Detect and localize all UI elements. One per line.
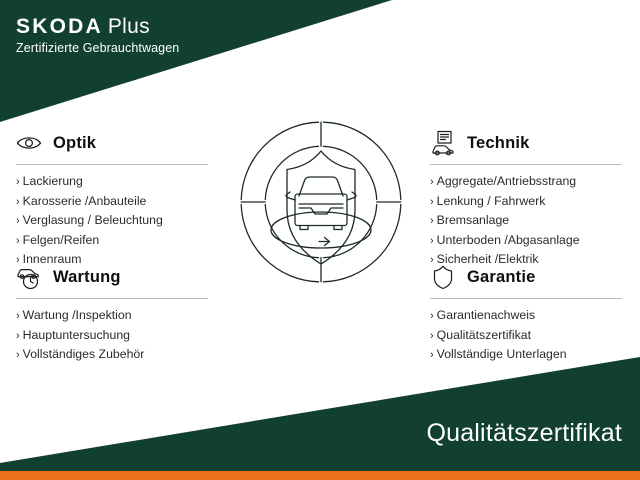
section-title: Technik bbox=[467, 134, 530, 153]
section-title: Optik bbox=[53, 134, 96, 153]
list-item-label: Karosserie /Anbauteile bbox=[23, 194, 147, 208]
section-header: Garantie bbox=[430, 262, 626, 292]
chevron-right-icon: › bbox=[430, 215, 434, 227]
chevron-right-icon: › bbox=[16, 196, 20, 208]
chevron-right-icon: › bbox=[430, 176, 434, 188]
list-item: ›Lackierung bbox=[16, 172, 212, 192]
chevron-right-icon: › bbox=[430, 349, 434, 361]
list-item-label: Unterboden /Abgasanlage bbox=[437, 233, 580, 247]
list-item-label: Vollständige Unterlagen bbox=[437, 347, 567, 361]
list-item: ›Felgen/Reifen bbox=[16, 231, 212, 251]
list-item: ›Verglasung / Beleuchtung bbox=[16, 211, 212, 231]
section-technik: Technik ›Aggregate/Antriebsstrang ›Lenku… bbox=[430, 128, 626, 270]
footer-title: Qualitätszertifikat bbox=[426, 419, 622, 448]
list-item: ›Vollständige Unterlagen bbox=[430, 345, 626, 365]
brand-primary-line: SKODAPlus bbox=[16, 16, 179, 38]
section-item-list: ›Wartung /Inspektion ›Hauptuntersuchung … bbox=[16, 306, 212, 365]
list-item-label: Bremsanlage bbox=[437, 213, 509, 227]
list-item-label: Lenkung / Fahrwerk bbox=[437, 194, 546, 208]
car-service-clock-icon bbox=[16, 264, 42, 290]
list-item: ›Unterboden /Abgasanlage bbox=[430, 231, 626, 251]
section-header: Optik bbox=[16, 128, 212, 158]
chevron-right-icon: › bbox=[430, 330, 434, 342]
brand-suffix: Plus bbox=[108, 15, 150, 38]
section-divider bbox=[430, 164, 622, 165]
section-header: Technik bbox=[430, 128, 626, 158]
list-item: ›Aggregate/Antriebsstrang bbox=[430, 172, 626, 192]
section-divider bbox=[16, 298, 208, 299]
orbit-ellipse bbox=[271, 212, 371, 248]
chevron-right-icon: › bbox=[16, 349, 20, 361]
chevron-right-icon: › bbox=[16, 330, 20, 342]
chevron-right-icon: › bbox=[430, 196, 434, 208]
footer-accent-bar bbox=[0, 471, 640, 480]
list-item-label: Aggregate/Antriebsstrang bbox=[437, 174, 576, 188]
section-header: Wartung bbox=[16, 262, 212, 292]
list-item: ›Wartung /Inspektion bbox=[16, 306, 212, 326]
chevron-right-icon: › bbox=[16, 310, 20, 322]
eye-icon bbox=[16, 130, 42, 156]
section-item-list: ›Aggregate/Antriebsstrang ›Lenkung / Fah… bbox=[430, 172, 626, 270]
section-item-list: ›Garantienachweis ›Qualitätszertifikat ›… bbox=[430, 306, 626, 365]
chevron-right-icon: › bbox=[430, 310, 434, 322]
list-item-label: Felgen/Reifen bbox=[23, 233, 100, 247]
list-item: ›Qualitätszertifikat bbox=[430, 326, 626, 346]
section-title: Garantie bbox=[467, 268, 536, 287]
chevron-right-icon: › bbox=[16, 176, 20, 188]
section-title: Wartung bbox=[53, 268, 121, 287]
section-optik: Optik ›Lackierung ›Karosserie /Anbauteil… bbox=[16, 128, 212, 270]
section-garantie: Garantie ›Garantienachweis ›Qualitätszer… bbox=[430, 262, 626, 365]
list-item: ›Vollständiges Zubehör bbox=[16, 345, 212, 365]
list-item: ›Bremsanlage bbox=[430, 211, 626, 231]
list-item: ›Lenkung / Fahrwerk bbox=[430, 192, 626, 212]
list-item: ›Karosserie /Anbauteile bbox=[16, 192, 212, 212]
orbit-arrow-head bbox=[319, 238, 330, 246]
section-divider bbox=[16, 164, 208, 165]
chevron-right-icon: › bbox=[16, 215, 20, 227]
list-item-label: Qualitätszertifikat bbox=[437, 328, 531, 342]
list-item-label: Lackierung bbox=[23, 174, 83, 188]
list-item: ›Hauptuntersuchung bbox=[16, 326, 212, 346]
shield-icon bbox=[430, 264, 456, 290]
chevron-right-icon: › bbox=[430, 235, 434, 247]
shield-car-circle-graphic bbox=[237, 118, 405, 286]
list-item-label: Garantienachweis bbox=[437, 308, 535, 322]
list-item-label: Wartung /Inspektion bbox=[23, 308, 132, 322]
chevron-right-icon: › bbox=[16, 235, 20, 247]
document-car-icon bbox=[430, 130, 456, 156]
list-item-label: Hauptuntersuchung bbox=[23, 328, 130, 342]
brand-wordmark: SKODA bbox=[16, 15, 103, 38]
footer-banner bbox=[0, 357, 640, 472]
shield-outline bbox=[287, 151, 355, 264]
list-item-label: Vollständiges Zubehör bbox=[23, 347, 145, 361]
list-item: ›Garantienachweis bbox=[430, 306, 626, 326]
section-item-list: ›Lackierung ›Karosserie /Anbauteile ›Ver… bbox=[16, 172, 212, 270]
list-item-label: Verglasung / Beleuchtung bbox=[23, 213, 163, 227]
brand-logo: SKODAPlus Zertifizierte Gebrauchtwagen bbox=[16, 16, 179, 55]
section-divider bbox=[430, 298, 622, 299]
car-front-icon bbox=[286, 177, 356, 230]
brand-tagline: Zertifizierte Gebrauchtwagen bbox=[16, 41, 179, 55]
ring-connector-ticks bbox=[241, 122, 401, 282]
section-wartung: Wartung ›Wartung /Inspektion ›Hauptunter… bbox=[16, 262, 212, 365]
